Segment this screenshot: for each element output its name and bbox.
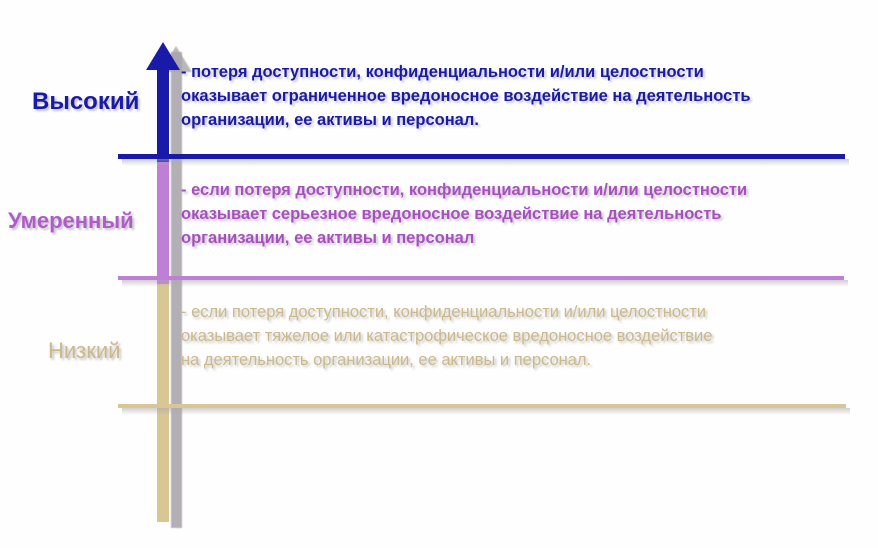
band-text-moderate-line-1: - если потеря доступности, конфиденциаль… (181, 178, 871, 202)
axis-shaft-low (157, 284, 169, 522)
band-text-high: - потеря доступности, конфиденциальности… (181, 60, 871, 132)
divider-low (118, 404, 846, 408)
band-text-low: - если потеря доступности, конфиденциаль… (181, 300, 871, 372)
divider-moderate (118, 276, 844, 280)
axis-shaft-moderate (157, 162, 169, 284)
impact-level-diagram: Высокий - потеря доступности, конфиденци… (0, 0, 878, 548)
axis-arrow-head-icon (146, 42, 180, 70)
band-text-moderate: - если потеря доступности, конфиденциаль… (181, 178, 871, 250)
band-text-high-line-2: оказывает ограниченное вредоносное возде… (181, 84, 871, 108)
band-text-moderate-line-3: организации, ее активы и персонал (181, 226, 871, 250)
divider-high (118, 154, 845, 159)
axis-shaft-high (157, 68, 169, 162)
band-text-moderate-line-2: оказывает серьезное вредоносное воздейст… (181, 202, 871, 226)
band-text-low-line-1: - если потеря доступности, конфиденциаль… (181, 300, 871, 324)
band-text-low-line-2: оказывает тяжелое или катастрофическое в… (181, 324, 871, 348)
band-label-moderate: Умеренный (8, 208, 134, 234)
band-label-high: Высокий (32, 88, 139, 116)
band-text-high-line-1: - потеря доступности, конфиденциальности… (181, 60, 871, 84)
band-text-high-line-3: организации, ее активы и персонал. (181, 108, 871, 132)
band-label-low: Низкий (48, 338, 120, 364)
band-text-low-line-3: на деятельность организации, ее активы и… (181, 348, 871, 372)
